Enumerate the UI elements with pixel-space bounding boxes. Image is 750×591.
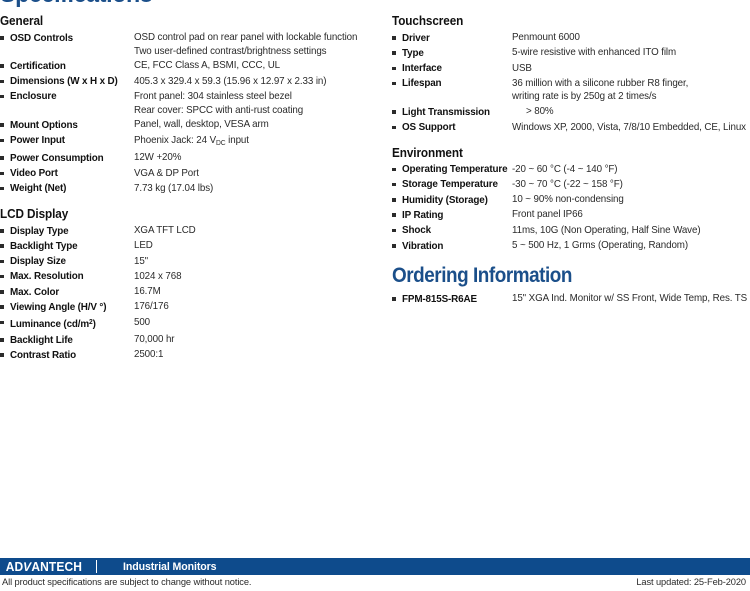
spec-row: Power Consumption12W +20% bbox=[0, 151, 382, 165]
spec-row: Max. Resolution1024 x 768 bbox=[0, 270, 382, 284]
bullet-square-icon bbox=[0, 134, 10, 143]
logo-text-after: ANTECH bbox=[31, 560, 82, 574]
spec-value-line: 16.7M bbox=[134, 285, 372, 299]
spec-row: FPM-815S-R6AE15" XGA Ind. Monitor w/ SS … bbox=[392, 292, 750, 306]
spec-value-line: 12W +20% bbox=[134, 151, 372, 165]
spec-value-line: XGA TFT LCD bbox=[134, 224, 372, 238]
bullet-square-icon bbox=[0, 348, 10, 357]
spec-value-enclosure: Front panel: 304 stainless steel bezelRe… bbox=[134, 90, 372, 117]
spec-row: Power InputPhoenix Jack: 24 VDC input bbox=[0, 134, 382, 151]
spec-row: Lifespan36 million with a silicone rubbe… bbox=[392, 77, 750, 104]
spec-value-shock: 11ms, 10G (Non Operating, Half Sine Wave… bbox=[512, 224, 740, 238]
bullet-square-icon bbox=[0, 270, 10, 279]
left-column: GeneralOSD ControlsOSD control pad on re… bbox=[0, 14, 382, 373]
spec-row: Operating Temperature-20 ~ 60 °C (-4 ~ 1… bbox=[392, 163, 750, 177]
bullet-square-icon bbox=[392, 239, 402, 248]
spec-value-vibration: 5 ~ 500 Hz, 1 Grms (Operating, Random) bbox=[512, 239, 740, 253]
spec-value-line: writing rate is by 250g at 2 times/s bbox=[512, 90, 740, 104]
spec-label-enclosure: Enclosure bbox=[10, 90, 128, 104]
bullet-square-icon bbox=[392, 193, 402, 202]
spec-row: Humidity (Storage)10 ~ 90% non-condensin… bbox=[392, 193, 750, 207]
spec-label-luminance-cd-m-sup-2-sup: Luminance (cd/m2) bbox=[10, 316, 128, 332]
spec-value-display-size: 15" bbox=[134, 255, 372, 269]
page-title: Specifications bbox=[0, 0, 391, 7]
section-heading-general: General bbox=[0, 14, 359, 28]
spec-label-contrast-ratio: Contrast Ratio bbox=[10, 348, 128, 362]
spec-value-line: 15" XGA Ind. Monitor w/ SS Front, Wide T… bbox=[512, 292, 747, 306]
spec-label-weight-net: Weight (Net) bbox=[10, 182, 128, 196]
spec-value-line: > 80% bbox=[526, 105, 741, 119]
spec-label-mount-options: Mount Options bbox=[10, 118, 128, 132]
spec-value-line: 15" bbox=[134, 255, 372, 269]
spec-value-line: USB bbox=[512, 62, 740, 76]
footer-brand-bar: ADVANTECH Industrial Monitors bbox=[0, 558, 750, 575]
spec-value-max-resolution: 1024 x 768 bbox=[134, 270, 372, 284]
spec-value-backlight-life: 70,000 hr bbox=[134, 333, 372, 347]
spec-value-line: Rear cover: SPCC with anti-rust coating bbox=[134, 104, 372, 118]
spec-label-osd-controls: OSD Controls bbox=[10, 31, 128, 45]
spec-label-display-size: Display Size bbox=[10, 255, 128, 269]
spec-value-line: 70,000 hr bbox=[134, 333, 372, 347]
spec-value-power-input: Phoenix Jack: 24 VDC input bbox=[134, 134, 372, 151]
spec-value-dimensions-w-x-h-x-d: 405.3 x 329.4 x 59.3 (15.96 x 12.97 x 2.… bbox=[134, 75, 372, 89]
spec-value-line: 11ms, 10G (Non Operating, Half Sine Wave… bbox=[512, 224, 740, 238]
spec-label-max-resolution: Max. Resolution bbox=[10, 270, 128, 284]
spec-value-line: Front panel: 304 stainless steel bezel bbox=[134, 90, 372, 104]
spec-row: Backlight TypeLED bbox=[0, 239, 382, 253]
bullet-square-icon bbox=[0, 182, 10, 191]
spec-row: Display TypeXGA TFT LCD bbox=[0, 224, 382, 238]
bullet-square-icon bbox=[0, 151, 10, 160]
spec-value-line: 10 ~ 90% non-condensing bbox=[512, 193, 740, 207]
bullet-square-icon bbox=[0, 75, 10, 84]
bullet-square-icon bbox=[0, 90, 10, 99]
spec-value-line: 5-wire resistive with enhanced ITO film bbox=[512, 46, 740, 60]
spec-label-backlight-life: Backlight Life bbox=[10, 333, 128, 347]
bullet-square-icon bbox=[0, 255, 10, 264]
spec-value-interface: USB bbox=[512, 62, 740, 76]
right-column: TouchscreenDriverPenmount 6000Type5-wire… bbox=[392, 14, 750, 317]
spec-value-contrast-ratio: 2500:1 bbox=[134, 348, 372, 362]
spec-row: Vibration5 ~ 500 Hz, 1 Grms (Operating, … bbox=[392, 239, 750, 253]
spec-value-line: 405.3 x 329.4 x 59.3 (15.96 x 12.97 x 2.… bbox=[134, 75, 372, 89]
spec-value-osd-controls: OSD control pad on rear panel with locka… bbox=[134, 31, 372, 58]
footer-disclaimer: All product specifications are subject t… bbox=[2, 577, 251, 587]
spec-value-max-color: 16.7M bbox=[134, 285, 372, 299]
spec-row: EnclosureFront panel: 304 stainless stee… bbox=[0, 90, 382, 117]
spec-value-line: 5 ~ 500 Hz, 1 Grms (Operating, Random) bbox=[512, 239, 740, 253]
bullet-square-icon bbox=[392, 62, 402, 71]
spec-value-line: -20 ~ 60 °C (-4 ~ 140 °F) bbox=[512, 163, 740, 177]
spec-label-vibration: Vibration bbox=[402, 239, 514, 253]
bullet-square-icon bbox=[0, 167, 10, 176]
spec-label-fpm-815s-r6ae: FPM-815S-R6AE bbox=[402, 292, 507, 306]
spec-row: Max. Color16.7M bbox=[0, 285, 382, 299]
logo-text-before: AD bbox=[6, 560, 24, 574]
spec-label-driver: Driver bbox=[402, 31, 507, 45]
spec-label-power-input: Power Input bbox=[10, 134, 128, 148]
spec-row: OS SupportWindows XP, 2000, Vista, 7/8/1… bbox=[392, 121, 750, 135]
spec-value-display-type: XGA TFT LCD bbox=[134, 224, 372, 238]
bullet-square-icon bbox=[0, 59, 10, 68]
page-footer: ADVANTECH Industrial Monitors All produc… bbox=[0, 558, 750, 591]
spec-label-os-support: OS Support bbox=[402, 121, 507, 135]
spec-row: DriverPenmount 6000 bbox=[392, 31, 750, 45]
section-heading-touchscreen: Touchscreen bbox=[392, 14, 729, 28]
spec-value-line: 176/176 bbox=[134, 300, 372, 314]
section-general: GeneralOSD ControlsOSD control pad on re… bbox=[0, 14, 382, 196]
spec-label-light-transmission: Light Transmission bbox=[402, 105, 527, 119]
spec-value-type: 5-wire resistive with enhanced ITO film bbox=[512, 46, 740, 60]
spec-row: Contrast Ratio2500:1 bbox=[0, 348, 382, 362]
spec-value-os-support: Windows XP, 2000, Vista, 7/8/10 Embedded… bbox=[512, 121, 746, 135]
spec-value-line: Windows XP, 2000, Vista, 7/8/10 Embedded… bbox=[512, 121, 746, 135]
spec-label-ip-rating: IP Rating bbox=[402, 208, 514, 222]
spec-label-max-color: Max. Color bbox=[10, 285, 128, 299]
bullet-square-icon bbox=[392, 292, 402, 301]
bullet-square-icon bbox=[0, 118, 10, 127]
spec-row: Weight (Net)7.73 kg (17.04 lbs) bbox=[0, 182, 382, 196]
spec-row: Display Size15" bbox=[0, 255, 382, 269]
spec-label-dimensions-w-x-h-x-d: Dimensions (W x H x D) bbox=[10, 75, 135, 89]
spec-row: InterfaceUSB bbox=[392, 62, 750, 76]
spec-value-line: Panel, wall, desktop, VESA arm bbox=[134, 118, 372, 132]
spec-value-ip-rating: Front panel IP66 bbox=[512, 208, 740, 222]
footer-note-row: All product specifications are subject t… bbox=[0, 575, 750, 591]
spec-row: Light Transmission> 80% bbox=[392, 105, 750, 119]
spec-value-operating-temperature: -20 ~ 60 °C (-4 ~ 140 °F) bbox=[512, 163, 740, 177]
spec-label-storage-temperature: Storage Temperature bbox=[402, 178, 514, 192]
section-heading-ordering-information: Ordering Information bbox=[392, 264, 714, 288]
spec-row: Shock11ms, 10G (Non Operating, Half Sine… bbox=[392, 224, 750, 238]
section-touchscreen: TouchscreenDriverPenmount 6000Type5-wire… bbox=[392, 14, 750, 135]
advantech-logo: ADVANTECH bbox=[0, 560, 92, 574]
bullet-square-icon bbox=[0, 333, 10, 342]
spec-value-line: 2500:1 bbox=[134, 348, 372, 362]
spec-value-viewing-angle-h-v: 176/176 bbox=[134, 300, 372, 314]
spec-value-backlight-type: LED bbox=[134, 239, 372, 253]
spec-value-line: 36 million with a silicone rubber R8 fin… bbox=[512, 77, 740, 91]
section-environment: EnvironmentOperating Temperature-20 ~ 60… bbox=[392, 146, 750, 254]
spec-value-luminance-cd-m-sup-2-sup: 500 bbox=[134, 316, 372, 330]
page-title-container: Specifications bbox=[0, 0, 420, 7]
bullet-square-icon bbox=[392, 105, 402, 114]
bullet-square-icon bbox=[0, 239, 10, 248]
spec-label-viewing-angle-h-v: Viewing Angle (H/V °) bbox=[10, 300, 135, 314]
spec-value-weight-net: 7.73 kg (17.04 lbs) bbox=[134, 182, 372, 196]
spec-row: Type5-wire resistive with enhanced ITO f… bbox=[392, 46, 750, 60]
spec-label-shock: Shock bbox=[402, 224, 514, 238]
spec-row: OSD ControlsOSD control pad on rear pane… bbox=[0, 31, 382, 58]
section-heading-environment: Environment bbox=[392, 146, 729, 160]
spec-row: Storage Temperature-30 ~ 70 °C (-22 ~ 15… bbox=[392, 178, 750, 192]
spec-label-display-type: Display Type bbox=[10, 224, 128, 238]
spec-row: Luminance (cd/m2)500 bbox=[0, 316, 382, 332]
spec-value-line: LED bbox=[134, 239, 372, 253]
bullet-square-icon bbox=[392, 208, 402, 217]
spec-value-lifespan: 36 million with a silicone rubber R8 fin… bbox=[512, 77, 740, 104]
section-ordering-information: Ordering InformationFPM-815S-R6AE15" XGA… bbox=[392, 264, 750, 306]
spec-value-power-consumption: 12W +20% bbox=[134, 151, 372, 165]
spec-label-humidity-storage: Humidity (Storage) bbox=[402, 193, 514, 207]
spec-value-mount-options: Panel, wall, desktop, VESA arm bbox=[134, 118, 372, 132]
bullet-square-icon bbox=[0, 300, 10, 309]
bullet-square-icon bbox=[392, 31, 402, 40]
spec-value-line: Front panel IP66 bbox=[512, 208, 740, 222]
spec-value-line: Penmount 6000 bbox=[512, 31, 740, 45]
footer-category-title: Industrial Monitors bbox=[97, 561, 216, 573]
spec-label-type: Type bbox=[402, 46, 507, 60]
spec-row: Viewing Angle (H/V °)176/176 bbox=[0, 300, 382, 314]
bullet-square-icon bbox=[392, 163, 402, 172]
bullet-square-icon bbox=[392, 224, 402, 233]
spec-label-backlight-type: Backlight Type bbox=[10, 239, 128, 253]
spec-row: Backlight Life70,000 hr bbox=[0, 333, 382, 347]
bullet-square-icon bbox=[392, 178, 402, 187]
bullet-square-icon bbox=[0, 316, 10, 325]
spec-row: Dimensions (W x H x D)405.3 x 329.4 x 59… bbox=[0, 75, 382, 89]
spec-row: Video PortVGA & DP Port bbox=[0, 167, 382, 181]
section-lcd-display: LCD DisplayDisplay TypeXGA TFT LCDBackli… bbox=[0, 207, 382, 362]
spec-value-line: 7.73 kg (17.04 lbs) bbox=[134, 182, 372, 196]
spec-label-lifespan: Lifespan bbox=[402, 77, 507, 91]
footer-last-updated: Last updated: 25-Feb-2020 bbox=[636, 577, 746, 587]
bullet-square-icon bbox=[0, 224, 10, 233]
spec-value-video-port: VGA & DP Port bbox=[134, 167, 372, 181]
section-heading-lcd-display: LCD Display bbox=[0, 207, 359, 221]
spec-value-line: -30 ~ 70 °C (-22 ~ 158 °F) bbox=[512, 178, 740, 192]
spec-value-humidity-storage: 10 ~ 90% non-condensing bbox=[512, 193, 740, 207]
spec-label-interface: Interface bbox=[402, 62, 507, 76]
spec-value-line: Two user-defined contrast/brightness set… bbox=[134, 45, 372, 59]
spec-value-line: 500 bbox=[134, 316, 372, 330]
spec-value-line: CE, FCC Class A, BSMI, CCC, UL bbox=[134, 59, 372, 73]
spec-value-line: 1024 x 768 bbox=[134, 270, 372, 284]
bullet-square-icon bbox=[0, 31, 10, 40]
spec-value-light-transmission: > 80% bbox=[526, 105, 741, 119]
spec-row: Mount OptionsPanel, wall, desktop, VESA … bbox=[0, 118, 382, 132]
spec-row: CertificationCE, FCC Class A, BSMI, CCC,… bbox=[0, 59, 382, 73]
bullet-square-icon bbox=[392, 46, 402, 55]
spec-label-video-port: Video Port bbox=[10, 167, 128, 181]
spec-row: IP RatingFront panel IP66 bbox=[392, 208, 750, 222]
spec-label-power-consumption: Power Consumption bbox=[10, 151, 128, 165]
spec-value-line: OSD control pad on rear panel with locka… bbox=[134, 31, 372, 45]
spec-label-certification: Certification bbox=[10, 59, 128, 73]
bullet-square-icon bbox=[392, 77, 402, 86]
bullet-square-icon bbox=[0, 285, 10, 294]
spec-label-operating-temperature: Operating Temperature bbox=[402, 163, 514, 177]
spec-value-line: VGA & DP Port bbox=[134, 167, 372, 181]
spec-value-certification: CE, FCC Class A, BSMI, CCC, UL bbox=[134, 59, 372, 73]
spec-value-line: Phoenix Jack: 24 VDC input bbox=[134, 134, 372, 151]
spec-value-storage-temperature: -30 ~ 70 °C (-22 ~ 158 °F) bbox=[512, 178, 740, 192]
bullet-square-icon bbox=[392, 121, 402, 130]
spec-value-driver: Penmount 6000 bbox=[512, 31, 740, 45]
spec-value-fpm-815s-r6ae: 15" XGA Ind. Monitor w/ SS Front, Wide T… bbox=[512, 292, 747, 306]
